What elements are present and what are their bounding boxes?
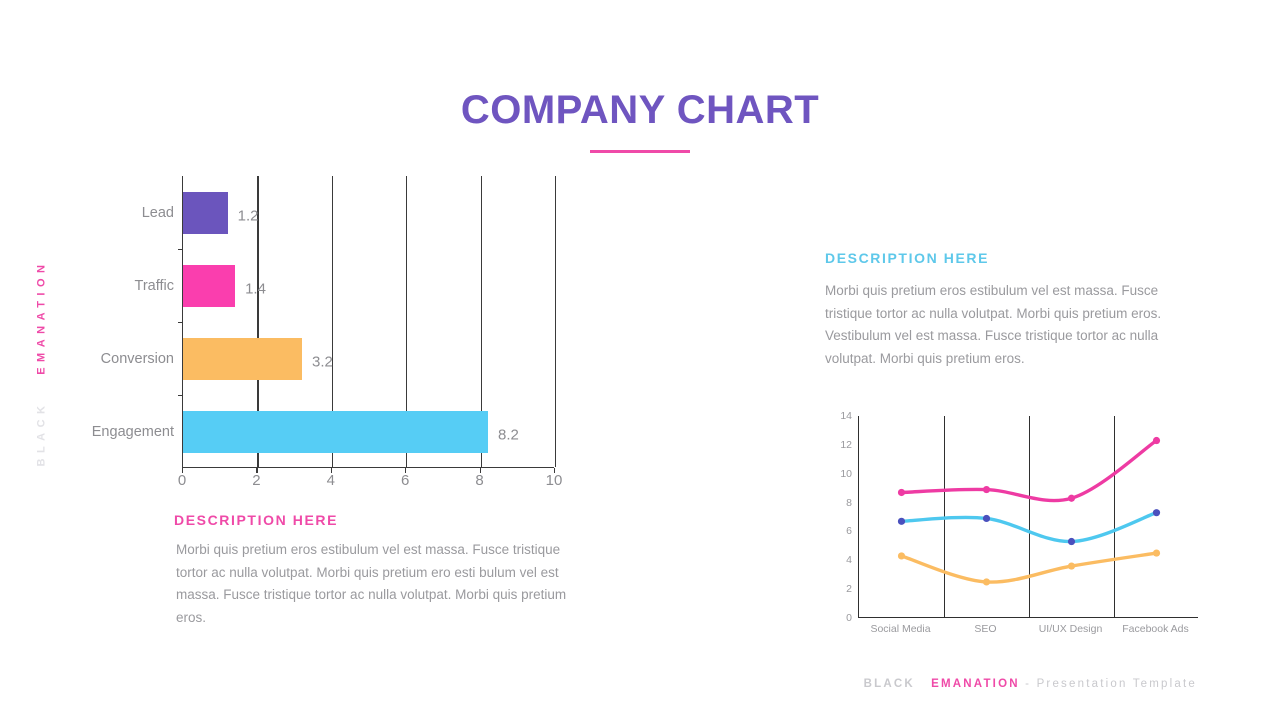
line-chart-data-point[interactable] [983,515,990,522]
line-chart-series-line[interactable] [902,553,1157,582]
line-chart-data-point[interactable] [983,486,990,493]
bar-chart-x-tick-label: 6 [401,472,409,489]
line-chart-plot-area [858,416,1198,618]
bar-chart-category-labels: LeadTrafficConversionEngagement [78,176,182,468]
bar-chart-bar[interactable] [183,411,488,453]
footer-brand-primary: BLACK [864,678,915,690]
vertical-brand-text: BLACK EMANATION [35,259,47,466]
bar-chart: LeadTrafficConversionEngagement 1.21.43.… [78,176,578,496]
bar-chart-category-label: Traffic [74,278,174,294]
bar-chart-category-tick [178,249,183,250]
bar-chart-category-label: Conversion [74,351,174,367]
bar-chart-bar[interactable] [183,265,235,307]
line-chart-y-tick-label: 4 [828,554,852,566]
bar-chart-gridline [555,176,556,467]
rail-brand-primary: BLACK [35,400,47,466]
right-description-body: Morbi quis pretium eros estibulum vel es… [825,280,1205,370]
line-chart-y-tick-label: 12 [828,439,852,451]
line-chart-y-tick-label: 10 [828,468,852,480]
bar-chart-value-label: 8.2 [498,426,519,443]
page-title: COMPANY CHART [0,88,1280,133]
footer-tail-text: - Presentation Template [1025,678,1197,690]
line-chart-data-point[interactable] [898,489,905,496]
footer-brand-secondary: EMANATION [931,678,1020,690]
left-description-heading: DESCRIPTION HERE [174,512,578,528]
line-chart-y-tick-label: 2 [828,583,852,595]
bar-chart-value-label: 3.2 [312,353,333,370]
line-chart-y-tick-label: 14 [828,410,852,422]
bar-chart-category-label: Engagement [74,424,174,440]
bar-chart-x-tick-label: 0 [178,472,186,489]
bar-chart-bar[interactable] [183,192,228,234]
line-chart-x-tick-label: Social Media [870,623,930,635]
bar-chart-value-label: 1.4 [245,280,266,297]
line-chart: 02468101214 Social MediaSEOUI/UX DesignF… [830,408,1205,643]
line-chart-data-point[interactable] [898,518,905,525]
bar-chart-category-label: Lead [74,205,174,221]
line-chart-series-line[interactable] [902,441,1157,501]
line-chart-series-line[interactable] [902,513,1157,542]
line-chart-data-point[interactable] [1068,562,1075,569]
line-chart-data-point[interactable] [1153,549,1160,556]
bar-chart-plot-area: 1.21.43.28.2 [182,176,554,468]
line-chart-x-tick-label: SEO [974,623,996,635]
line-chart-x-tick-label: Facebook Ads [1122,623,1189,635]
bar-chart-category-tick [178,395,183,396]
bar-chart-value-label: 1.2 [238,207,259,224]
bar-chart-category-tick [178,322,183,323]
right-description-block: DESCRIPTION HERE Morbi quis pretium eros… [825,250,1205,370]
line-chart-data-point[interactable] [1153,437,1160,444]
bar-chart-x-tick-label: 4 [327,472,335,489]
line-chart-data-point[interactable] [983,578,990,585]
footer-brand: BLACK EMANATION - Presentation Template [0,678,1197,690]
line-chart-series-layer [859,416,1199,618]
line-chart-y-tick-label: 8 [828,497,852,509]
vertical-brand-rail: BLACK EMANATION [28,245,54,480]
bar-chart-x-tick-label: 10 [546,472,563,489]
line-chart-data-point[interactable] [1068,538,1075,545]
title-underline-accent [590,150,690,153]
bar-chart-x-tick-label: 8 [475,472,483,489]
line-chart-y-tick-label: 6 [828,525,852,537]
bar-chart-bar[interactable] [183,338,302,380]
left-description-block: DESCRIPTION HERE Morbi quis pretium eros… [174,512,578,629]
slide-canvas: BLACK EMANATION COMPANY CHART LeadTraffi… [0,0,1280,720]
line-chart-data-point[interactable] [1153,509,1160,516]
line-chart-y-tick-label: 0 [828,612,852,624]
line-chart-x-tick-label: UI/UX Design [1039,623,1103,635]
line-chart-data-point[interactable] [898,552,905,559]
line-chart-y-axis-labels: 02468101214 [830,408,856,618]
left-description-body: Morbi quis pretium eros estibulum vel es… [174,539,578,629]
line-chart-data-point[interactable] [1068,495,1075,502]
rail-brand-secondary: EMANATION [35,259,47,374]
bar-chart-x-tick-label: 2 [252,472,260,489]
right-description-heading: DESCRIPTION HERE [825,250,1205,266]
